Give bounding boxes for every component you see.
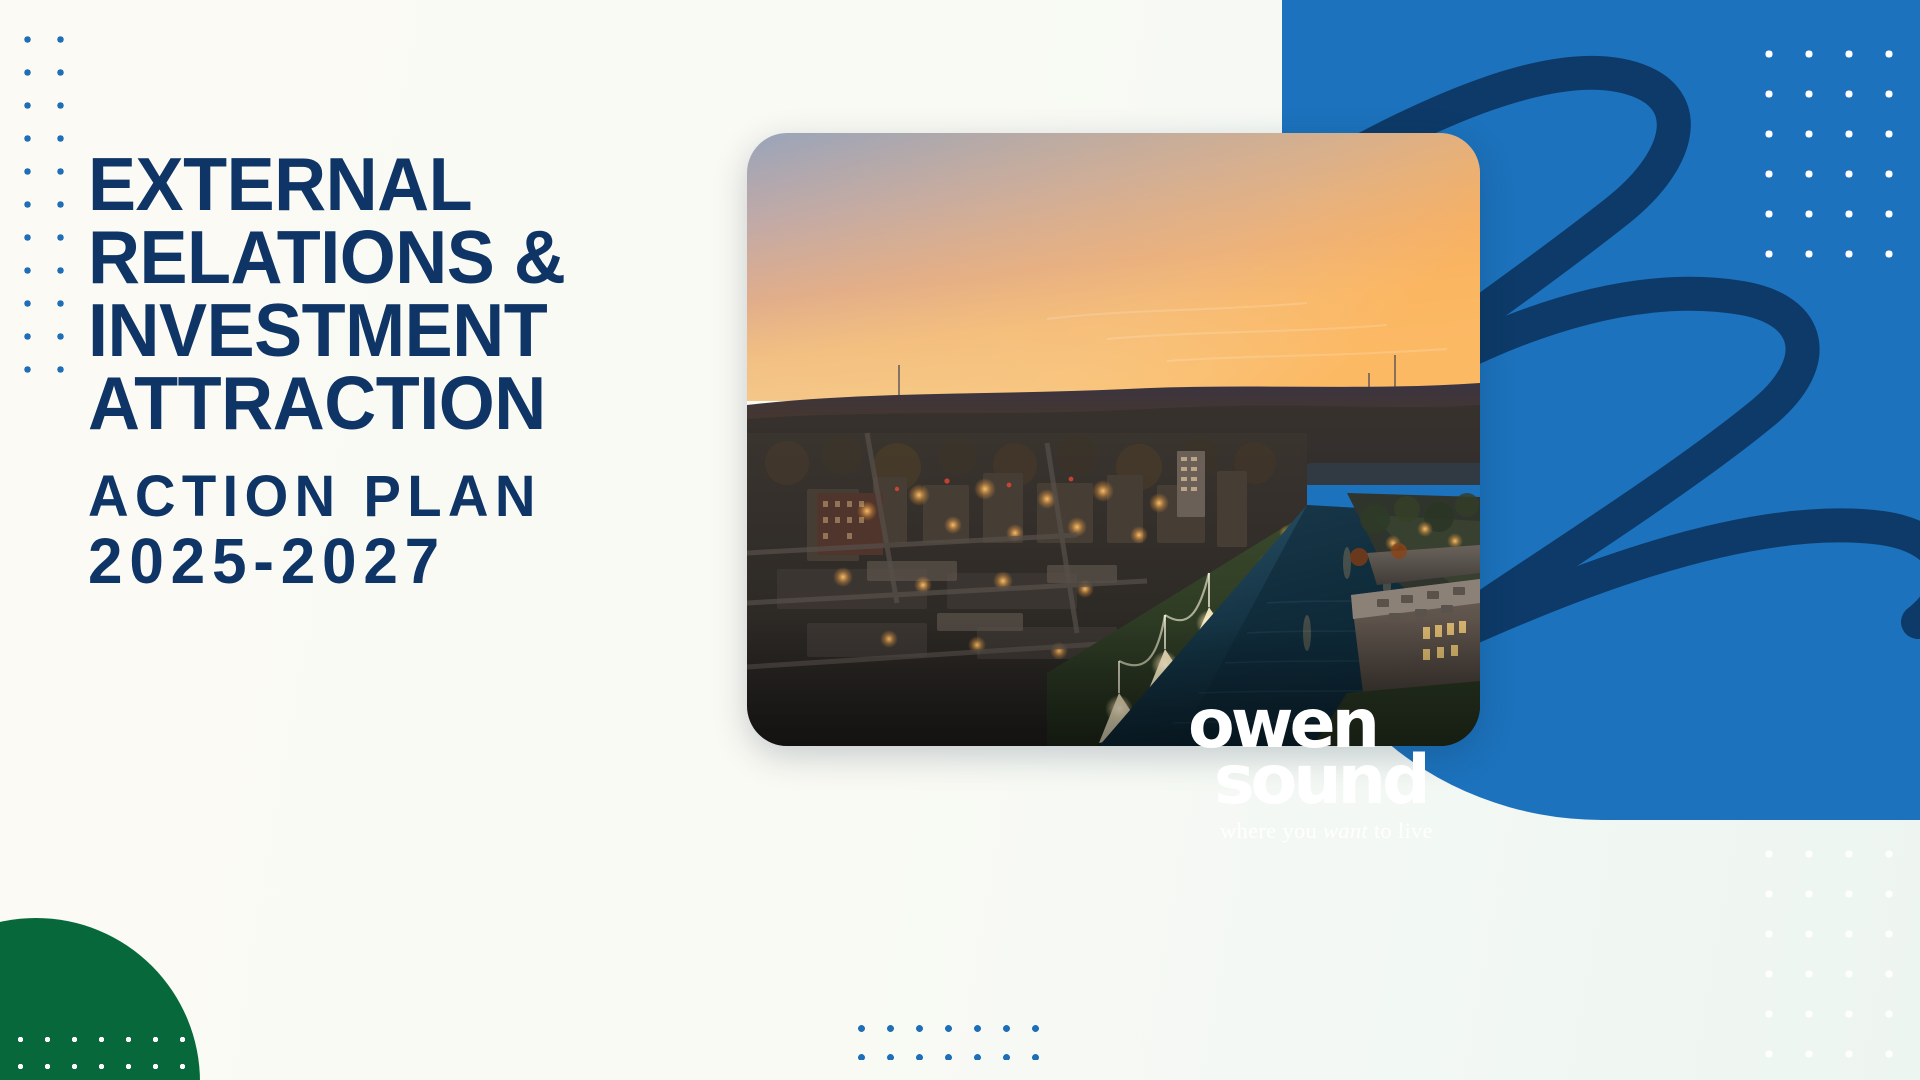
page-subtitle: ACTION PLAN [88,466,689,529]
white-dot-grid-top-right [1745,30,1920,260]
tagline-part-before: where you [1220,818,1323,843]
page-title: EXTERNAL RELATIONS & INVESTMENT ATTRACTI… [88,148,683,441]
blue-dot-grid-bottom-center [843,1010,1043,1060]
owen-sound-logo: owen sound where you want to live [1188,698,1488,844]
owen-sound-harbour-photo [747,133,1480,746]
logo-tagline: where you want to live [1220,818,1488,844]
cover-photo-card [747,133,1480,746]
plan-years: 2025-2027 [88,528,689,595]
logo-word-sound: sound [1214,752,1488,810]
white-dot-grid-bottom-right [1745,830,1920,1080]
tagline-emphasis-want: want [1323,818,1368,843]
blue-dot-grid-left [8,20,80,395]
title-block: EXTERNAL RELATIONS & INVESTMENT ATTRACTI… [88,148,708,595]
tagline-part-after: to live [1368,818,1433,843]
